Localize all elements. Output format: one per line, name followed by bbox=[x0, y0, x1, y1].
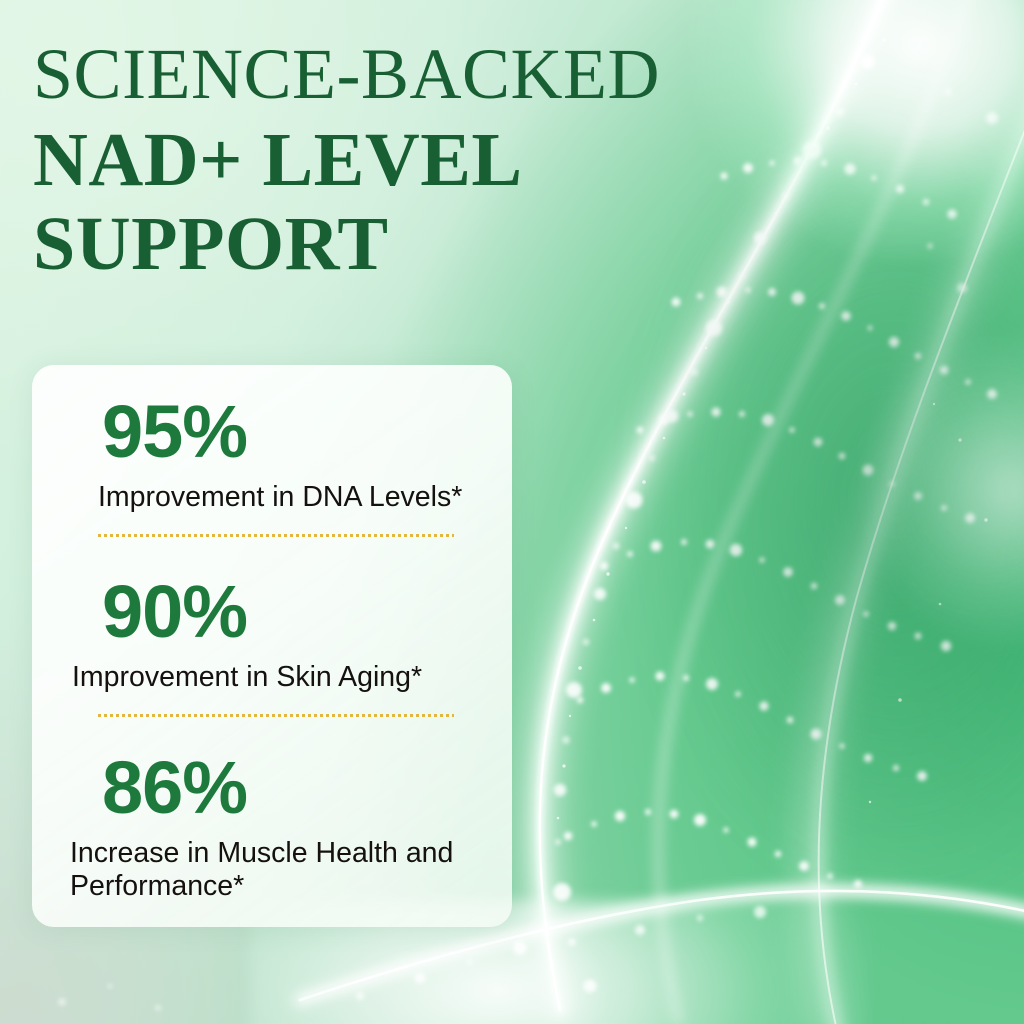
stat-divider bbox=[98, 534, 454, 537]
stat-item: 86% Increase in Muscle Health and Perfor… bbox=[70, 751, 478, 903]
mid-right-glow bbox=[860, 330, 1024, 650]
headline-line-2: NAD+ LEVEL bbox=[33, 124, 753, 198]
poster-canvas: SCIENCE-BACKED NAD+ LEVEL SUPPORT 95% Im… bbox=[0, 0, 1024, 1024]
stat-label: Improvement in Skin Aging* bbox=[72, 661, 478, 694]
stat-label: Improvement in DNA Levels* bbox=[98, 481, 478, 514]
headline-line-3: SUPPORT bbox=[33, 208, 753, 282]
headline-line-1: SCIENCE-BACKED bbox=[33, 40, 753, 110]
stat-item: 95% Improvement in DNA Levels* bbox=[70, 395, 478, 537]
stat-item: 90% Improvement in Skin Aging* bbox=[70, 575, 478, 717]
stat-value: 90% bbox=[102, 575, 478, 649]
stat-label: Increase in Muscle Health and Performanc… bbox=[70, 837, 478, 903]
stats-card: 95% Improvement in DNA Levels* 90% Impro… bbox=[32, 365, 512, 927]
stat-divider bbox=[98, 714, 454, 717]
headline: SCIENCE-BACKED NAD+ LEVEL SUPPORT bbox=[33, 40, 753, 281]
stat-value: 95% bbox=[102, 395, 478, 469]
stat-value: 86% bbox=[102, 751, 478, 825]
